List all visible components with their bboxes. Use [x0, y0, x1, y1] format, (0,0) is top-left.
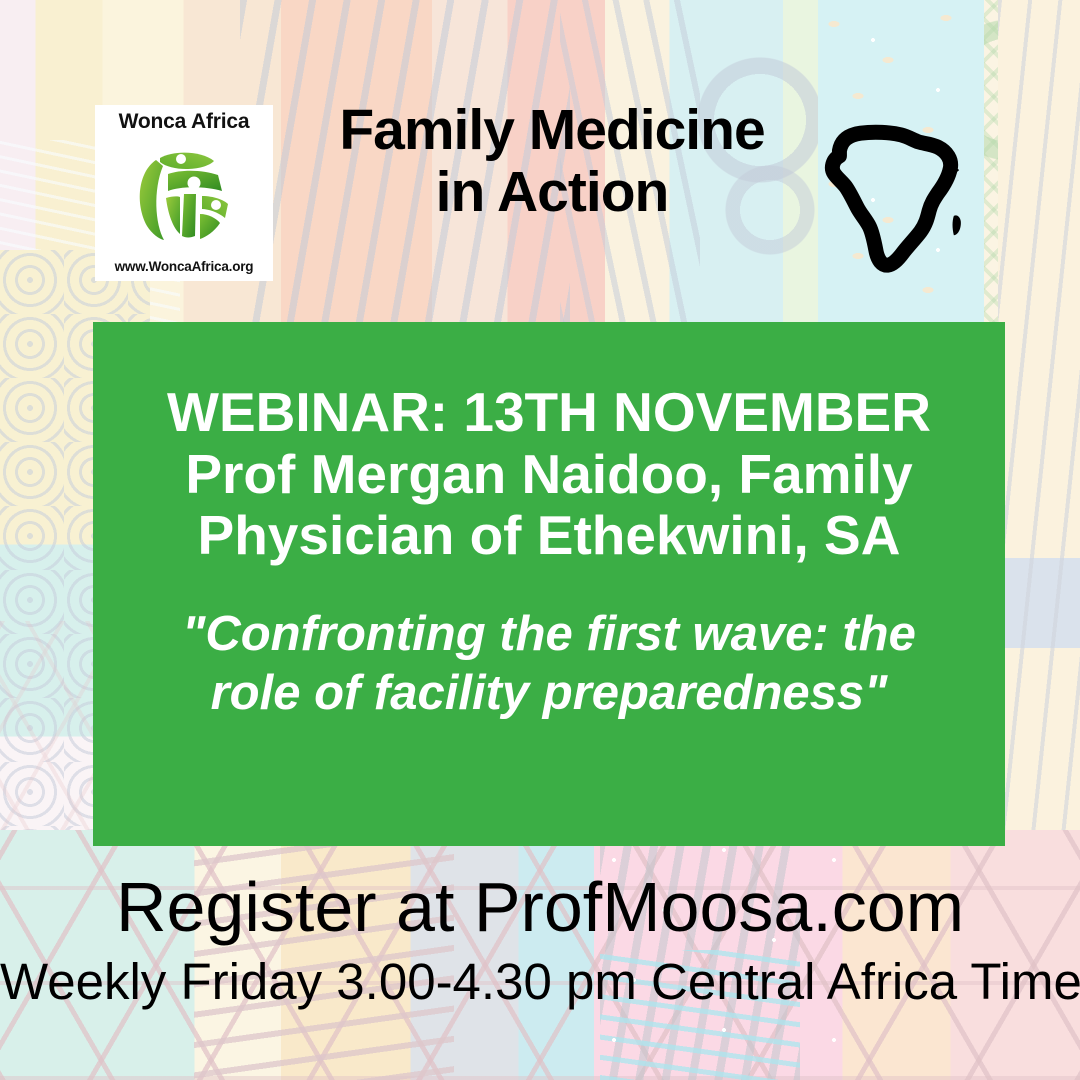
logo-url: www.WoncaAfrica.org: [115, 260, 254, 274]
wonca-globe-icon: [126, 144, 242, 248]
speaker-role-line: Physician of Ethekwini, SA: [93, 505, 1005, 567]
title-line-1: Family Medicine: [272, 100, 832, 162]
background-right-stripes: [998, 0, 1080, 900]
schedule-text: Weekly Friday 3.00-4.30 pm Central Afric…: [0, 956, 1080, 1007]
webinar-topic-quote: "Confronting the first wave: the role of…: [93, 605, 1005, 723]
page-title: Family Medicine in Action: [272, 100, 832, 223]
webinar-date-line: WEBINAR: 13TH NOVEMBER: [93, 382, 1005, 444]
panel-content: WEBINAR: 13TH NOVEMBER Prof Mergan Naido…: [93, 382, 1005, 722]
logo-title: Wonca Africa: [119, 111, 250, 132]
title-line-2: in Action: [272, 162, 832, 224]
speaker-name-line: Prof Mergan Naidoo, Family: [93, 444, 1005, 506]
wonca-africa-logo: Wonca Africa: [95, 105, 273, 281]
webinar-details-panel: WEBINAR: 13TH NOVEMBER Prof Mergan Naido…: [93, 322, 1005, 846]
quote-line-2: role of facility preparedness": [93, 664, 1005, 723]
poster-canvas: Wonca Africa: [0, 0, 1080, 1080]
registration-call-to-action[interactable]: Register at ProfMoosa.com: [0, 872, 1080, 942]
quote-line-1: "Confronting the first wave: the: [93, 605, 1005, 664]
footer: Register at ProfMoosa.com Weekly Friday …: [0, 872, 1080, 1007]
africa-outline-icon: [806, 104, 982, 282]
